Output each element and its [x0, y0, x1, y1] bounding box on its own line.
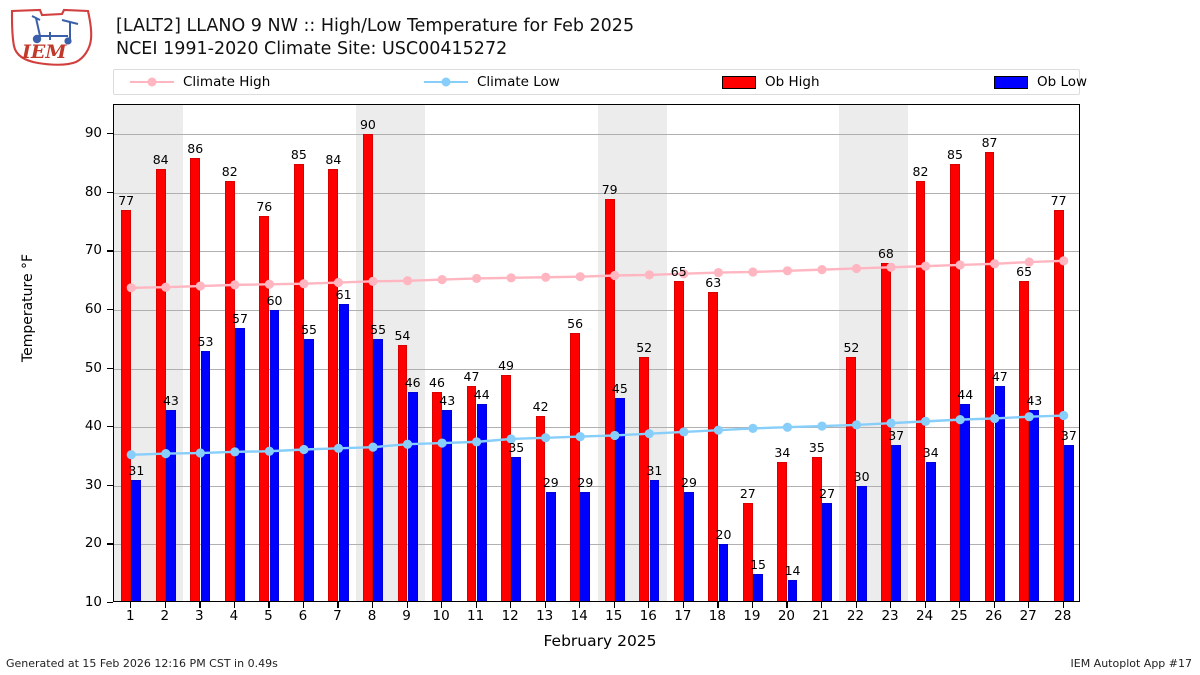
x-axis-tick-label: 25: [951, 608, 968, 624]
x-axis-tick-label: 2: [161, 608, 170, 624]
ob-high-bar: [708, 292, 718, 602]
legend-label-climate-high: Climate High: [183, 74, 270, 90]
chart-legend: Climate High Climate Low Ob High Ob Low: [113, 69, 1080, 95]
bar-value-label: 60: [267, 293, 283, 308]
bar-value-label: 20: [716, 527, 732, 542]
x-axis-tick: [545, 602, 546, 608]
climate-low-point: [817, 421, 826, 430]
gridline: [114, 193, 1079, 194]
x-axis-tick-label: 11: [467, 608, 484, 624]
bar-value-label: 65: [671, 264, 687, 279]
ob-low-bar: [339, 304, 349, 602]
y-axis-tick-label: 30: [58, 477, 102, 493]
x-axis-tick-label: 13: [536, 608, 553, 624]
ob-low-bar: [891, 445, 901, 602]
bar-value-label: 52: [636, 340, 652, 355]
x-axis-tick-label: 28: [1054, 608, 1071, 624]
ob-high-bar: [294, 164, 304, 602]
x-axis-tick: [614, 602, 615, 608]
ob-high-bar: [812, 457, 822, 602]
ob-high-bar: [743, 503, 753, 602]
x-axis-tick: [372, 602, 373, 608]
x-axis-tick: [337, 602, 338, 608]
x-axis-title: February 2025: [0, 632, 1200, 650]
x-axis-tick-label: 4: [230, 608, 239, 624]
bar-value-label: 47: [992, 369, 1008, 384]
ob-high-bar: [190, 158, 200, 602]
bar-value-label: 44: [957, 387, 973, 402]
bar-value-label: 49: [498, 358, 514, 373]
x-axis-tick-label: 21: [812, 608, 829, 624]
ob-high-bar: [1054, 210, 1064, 602]
ob-low-bar: [477, 404, 487, 602]
bar-value-label: 82: [913, 164, 929, 179]
bar-value-label: 90: [360, 117, 376, 132]
y-axis-tick-label: 90: [58, 125, 102, 141]
x-axis-tick: [476, 602, 477, 608]
x-axis-tick-label: 12: [502, 608, 519, 624]
climate-high-line-icon: [130, 81, 174, 83]
bar-value-label: 43: [439, 393, 455, 408]
chart-plot-area[interactable]: 7731844386538257766085558461905554464643…: [113, 104, 1080, 602]
ob-low-bar: [822, 503, 832, 602]
ob-low-bar: [270, 310, 280, 602]
x-axis-tick: [234, 602, 235, 608]
bar-value-label: 46: [405, 375, 421, 390]
bar-value-label: 34: [923, 445, 939, 460]
x-axis-tick-label: 1: [126, 608, 135, 624]
bar-value-label: 47: [464, 369, 480, 384]
ob-high-bar: [363, 134, 373, 602]
bar-value-label: 55: [301, 322, 317, 337]
x-axis-tick: [890, 602, 891, 608]
x-axis-tick: [1063, 602, 1064, 608]
ob-high-bar: [674, 281, 684, 602]
legend-label-climate-low: Climate Low: [477, 74, 560, 90]
bar-value-label: 29: [577, 475, 593, 490]
legend-item-climate-low[interactable]: Climate Low: [424, 70, 560, 94]
bar-value-label: 35: [508, 440, 524, 455]
bar-value-label: 63: [705, 275, 721, 290]
x-axis-tick: [165, 602, 166, 608]
ob-low-bar: [442, 410, 452, 602]
x-axis-tick: [959, 602, 960, 608]
bar-value-label: 27: [819, 486, 835, 501]
bar-value-label: 77: [1051, 193, 1067, 208]
ob-high-bar: [121, 210, 131, 602]
x-axis-tick: [303, 602, 304, 608]
bar-value-label: 14: [785, 563, 801, 578]
y-axis-tick-label: 10: [58, 594, 102, 610]
bar-value-label: 35: [809, 440, 825, 455]
ob-low-bar: [304, 339, 314, 602]
x-axis-tick-label: 6: [299, 608, 308, 624]
bar-value-label: 84: [153, 152, 169, 167]
title-line-1: [LALT2] LLANO 9 NW :: High/Low Temperatu…: [116, 15, 634, 38]
bar-value-label: 85: [947, 147, 963, 162]
ob-high-bar: [328, 169, 338, 602]
ob-low-bar: [926, 462, 936, 602]
bar-value-label: 86: [187, 141, 203, 156]
page-header: IEM [LALT2] LLANO 9 NW :: High/Low Tempe…: [0, 0, 1200, 70]
page-title: [LALT2] LLANO 9 NW :: High/Low Temperatu…: [116, 15, 634, 61]
bar-value-label: 84: [325, 152, 341, 167]
x-axis-tick-label: 3: [195, 608, 204, 624]
climate-high-point: [507, 273, 516, 282]
ob-high-bar: [536, 416, 546, 602]
bar-value-label: 77: [118, 193, 134, 208]
gridline: [114, 134, 1079, 135]
x-axis-tick: [821, 602, 822, 608]
y-axis-title: Temperature °F: [20, 128, 36, 488]
ob-high-bar: [777, 462, 787, 602]
ob-low-bar: [131, 480, 141, 602]
x-axis-tick-label: 17: [674, 608, 691, 624]
ob-low-bar: [408, 392, 418, 602]
bar-value-label: 56: [567, 316, 583, 331]
x-axis-tick: [268, 602, 269, 608]
x-axis-tick: [407, 602, 408, 608]
ob-high-bar: [259, 216, 269, 602]
x-axis-tick-label: 7: [333, 608, 342, 624]
x-axis-tick: [925, 602, 926, 608]
bar-value-label: 44: [474, 387, 490, 402]
y-axis-tick-label: 40: [58, 418, 102, 434]
x-axis-tick-label: 20: [778, 608, 795, 624]
bar-value-label: 85: [291, 147, 307, 162]
climate-high-point: [576, 272, 585, 281]
y-axis-tick-label: 50: [58, 360, 102, 376]
y-axis-tick-label: 70: [58, 242, 102, 258]
ob-low-bar: [235, 328, 245, 602]
bar-value-label: 79: [602, 182, 618, 197]
footer-app-text: IEM Autoplot App #17: [1071, 657, 1193, 670]
x-axis-tick-label: 27: [1020, 608, 1037, 624]
ob-high-bar: [639, 357, 649, 602]
x-axis-tick: [1028, 602, 1029, 608]
bar-value-label: 55: [370, 322, 386, 337]
ob-high-bar: [156, 169, 166, 602]
x-axis-tick-label: 5: [264, 608, 273, 624]
ob-high-bar: [1019, 281, 1029, 602]
x-axis-tick-label: 8: [368, 608, 377, 624]
x-axis-tick: [441, 602, 442, 608]
y-axis-tick-label: 60: [58, 301, 102, 317]
ob-low-bar: [615, 398, 625, 602]
bar-value-label: 29: [543, 475, 559, 490]
ob-low-bar: [650, 480, 660, 602]
title-line-2: NCEI 1991-2020 Climate Site: USC00415272: [116, 38, 634, 61]
x-axis-tick-label: 10: [432, 608, 449, 624]
ob-high-bar: [501, 375, 511, 603]
bar-value-label: 15: [750, 557, 766, 572]
x-axis-tick-label: 18: [709, 608, 726, 624]
climate-low-line-icon: [424, 81, 468, 83]
ob-low-bar: [857, 486, 867, 602]
ob-low-bar: [373, 339, 383, 602]
bar-value-label: 87: [982, 135, 998, 150]
bar-value-label: 45: [612, 381, 628, 396]
ob-low-bar: [1029, 410, 1039, 602]
y-axis-tick: [107, 602, 113, 603]
climate-high-point: [748, 267, 757, 276]
ob-low-bar: [511, 457, 521, 602]
footer-generated-text: Generated at 15 Feb 2026 12:16 PM CST in…: [6, 657, 278, 670]
ob-high-bar: [570, 333, 580, 602]
ob-low-bar: [1064, 445, 1074, 602]
x-axis-tick: [752, 602, 753, 608]
x-axis-tick-label: 26: [985, 608, 1002, 624]
ob-low-bar: [719, 544, 729, 602]
x-axis-tick-label: 22: [847, 608, 864, 624]
climate-high-point: [817, 265, 826, 274]
x-axis-tick: [856, 602, 857, 608]
ob-low-bar: [753, 574, 763, 602]
bar-value-label: 54: [394, 328, 410, 343]
legend-label-ob-high: Ob High: [765, 74, 820, 90]
x-axis-tick-label: 15: [605, 608, 622, 624]
ob-low-bar: [546, 492, 556, 602]
bar-value-label: 57: [232, 311, 248, 326]
climate-high-point: [541, 273, 550, 282]
bar-value-label: 34: [774, 445, 790, 460]
svg-text:IEM: IEM: [21, 41, 67, 63]
bar-value-label: 37: [888, 428, 904, 443]
x-axis-tick: [717, 602, 718, 608]
ob-low-bar: [166, 410, 176, 602]
climate-low-point: [748, 424, 757, 433]
iem-logo: IEM: [6, 6, 98, 68]
bar-value-label: 43: [1026, 393, 1042, 408]
legend-item-ob-low[interactable]: Ob Low: [994, 70, 1087, 94]
bar-value-label: 31: [128, 463, 144, 478]
ob-high-swatch-icon: [722, 76, 756, 89]
bar-value-label: 82: [222, 164, 238, 179]
x-axis-tick: [648, 602, 649, 608]
ob-low-bar: [201, 351, 211, 602]
bar-value-label: 65: [1016, 264, 1032, 279]
x-axis-tick: [510, 602, 511, 608]
ob-high-bar: [950, 164, 960, 602]
climate-high-point: [472, 274, 481, 283]
ob-high-bar: [916, 181, 926, 602]
y-axis-tick-label: 80: [58, 184, 102, 200]
ob-high-bar: [225, 181, 235, 602]
ob-low-bar: [684, 492, 694, 602]
bar-value-label: 42: [533, 399, 549, 414]
x-axis-tick-label: 24: [916, 608, 933, 624]
bar-value-label: 31: [646, 463, 662, 478]
x-axis-tick: [579, 602, 580, 608]
ob-low-bar: [788, 580, 798, 602]
x-axis-tick-label: 19: [743, 608, 760, 624]
x-axis-tick: [786, 602, 787, 608]
bar-value-label: 29: [681, 475, 697, 490]
bar-value-label: 52: [843, 340, 859, 355]
x-axis-tick-label: 14: [571, 608, 588, 624]
bar-value-label: 46: [429, 375, 445, 390]
x-axis-tick: [683, 602, 684, 608]
ob-high-bar: [605, 199, 615, 602]
bar-value-label: 68: [878, 246, 894, 261]
x-axis-tick: [130, 602, 131, 608]
ob-low-bar: [960, 404, 970, 602]
x-axis-tick: [994, 602, 995, 608]
bar-value-label: 76: [256, 199, 272, 214]
legend-item-climate-high[interactable]: Climate High: [130, 70, 270, 94]
y-axis-tick-label: 20: [58, 535, 102, 551]
ob-low-bar: [995, 386, 1005, 602]
legend-item-ob-high[interactable]: Ob High: [722, 70, 820, 94]
legend-label-ob-low: Ob Low: [1037, 74, 1087, 90]
ob-low-bar: [580, 492, 590, 602]
bar-value-label: 61: [336, 287, 352, 302]
ob-high-bar: [467, 386, 477, 602]
bar-value-label: 30: [854, 469, 870, 484]
x-axis-tick: [199, 602, 200, 608]
x-axis-tick-label: 23: [881, 608, 898, 624]
bar-value-label: 37: [1061, 428, 1077, 443]
bar-value-label: 53: [198, 334, 214, 349]
ob-high-bar: [432, 392, 442, 602]
bar-value-label: 43: [163, 393, 179, 408]
x-axis-tick-label: 16: [640, 608, 657, 624]
bar-value-label: 27: [740, 486, 756, 501]
climate-high-point: [437, 275, 446, 284]
x-axis-tick-label: 9: [402, 608, 411, 624]
ob-low-swatch-icon: [994, 76, 1028, 89]
climate-high-point: [783, 266, 792, 275]
